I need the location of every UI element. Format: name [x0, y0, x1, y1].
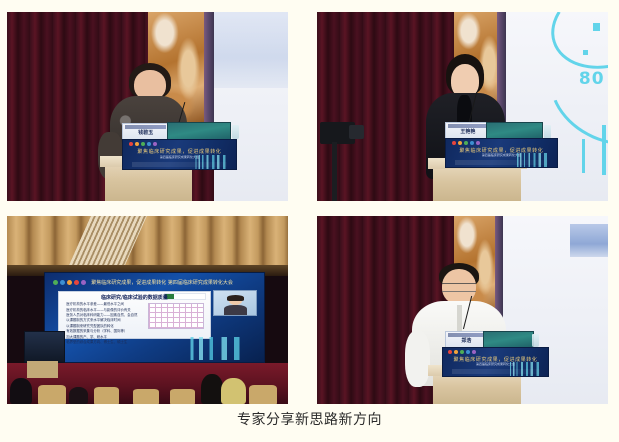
pip-body: [224, 305, 247, 315]
screen-header-title: 聚焦临床研究成果，促进成果转化 第四届临床研究成果转化大会: [91, 279, 233, 286]
podium-banner: 聚焦临床研究成果，促进成果转化 第四届临床研究成果转化大会: [442, 347, 549, 377]
photo-top-left[interactable]: 钱碧玉 聚焦临床研究成果，促进成果转化 第四届临床研究成果转化大会: [7, 12, 288, 201]
gallery-caption: 专家分享新思路新方向: [0, 409, 619, 429]
water-bottle: [232, 125, 239, 138]
podium-banner: 聚焦临床研究成果，促进成果转化 第四届临床研究成果转化大会: [445, 138, 558, 168]
podium: [433, 374, 520, 404]
photo-top-right[interactable]: 80 王艳艳: [317, 12, 608, 201]
wall-screen-glow: [214, 12, 288, 88]
page-root: 钱碧玉 聚焦临床研究成果，促进成果转化 第四届临床研究成果转化大会: [0, 0, 619, 442]
screen-header: 聚焦临床研究成果，促进成果转化 第四届临床研究成果转化大会: [45, 277, 264, 288]
logo-dot-icon: [583, 50, 588, 56]
audience-person: [69, 387, 89, 404]
screen-skyline-graphic: [185, 337, 255, 360]
podium: [433, 167, 520, 201]
slide-data-table: [148, 303, 205, 329]
banner-dot-icons: [448, 350, 476, 354]
banner-footer-strip: [132, 162, 226, 167]
nameplate-name: 郑浩: [446, 337, 487, 344]
banner-dot-icons: [129, 142, 157, 146]
audience-chair: [38, 385, 66, 404]
audience-chair: [170, 389, 195, 404]
audience-chair: [133, 389, 158, 404]
pip-hair: [227, 295, 244, 300]
remote-participant-video: [213, 290, 257, 316]
slide: 临床研究/临床试验的数据质量 医疗机构的水平参差——最低水平之间 医疗机构的临床…: [58, 291, 211, 339]
logo-tick-icon: [593, 23, 599, 31]
water-bottle: [532, 334, 539, 346]
nameplate-name: 王艳艳: [446, 128, 490, 135]
audience-person: [221, 378, 246, 404]
side-podium: [24, 331, 65, 363]
speaker-glasses-icon: [442, 283, 476, 292]
photo-gallery: 钱碧玉 聚焦临床研究成果，促进成果转化 第四届临床研究成果转化大会: [7, 12, 608, 404]
slide-bullet-item: 临界型的综合成果方向、博士生、硕士生: [66, 340, 142, 345]
podium-banner: 聚焦临床研究成果，促进成果转化 第四届临床研究成果转化大会: [122, 139, 236, 170]
wall-accent-bar-2: [602, 125, 605, 174]
side-podium-base: [27, 361, 58, 378]
photo-bottom-right[interactable]: 郑浩 聚焦临床研究成果，促进成果转化 第四届临床研究成果转化大会: [317, 216, 608, 404]
wall-accent-bar-1: [582, 139, 585, 173]
photo-bottom-left[interactable]: 聚焦临床研究成果，促进成果转化 第四届临床研究成果转化大会 临床研究/临床试验的…: [7, 216, 288, 404]
slide-title: 临床研究/临床试验的数据质量: [59, 294, 210, 301]
presentation-screen: 聚焦临床研究成果，促进成果转化 第四届临床研究成果转化大会 临床研究/临床试验的…: [44, 272, 265, 362]
camera-tripod: [332, 142, 338, 201]
audience-chair: [94, 387, 119, 404]
camera-lens: [349, 125, 364, 138]
banner-dot-icons: [452, 141, 480, 145]
slide-bullet-list: 医疗机构的水平参差——最低水平之间 医疗机构的临床水平——与影像的评价有关 医务…: [66, 302, 142, 345]
water-bottle: [544, 125, 551, 138]
audience-chair: [249, 385, 277, 404]
logo-80-text: 80: [579, 69, 605, 89]
banner-footer-strip: [452, 369, 540, 374]
audience-person: [201, 374, 223, 404]
speaker-arm: [405, 331, 430, 387]
banner-footer-strip: [455, 160, 548, 165]
wall-blue-panel: [570, 224, 608, 258]
nameplate-name: 钱碧玉: [123, 129, 168, 136]
audience-person: [10, 378, 32, 404]
